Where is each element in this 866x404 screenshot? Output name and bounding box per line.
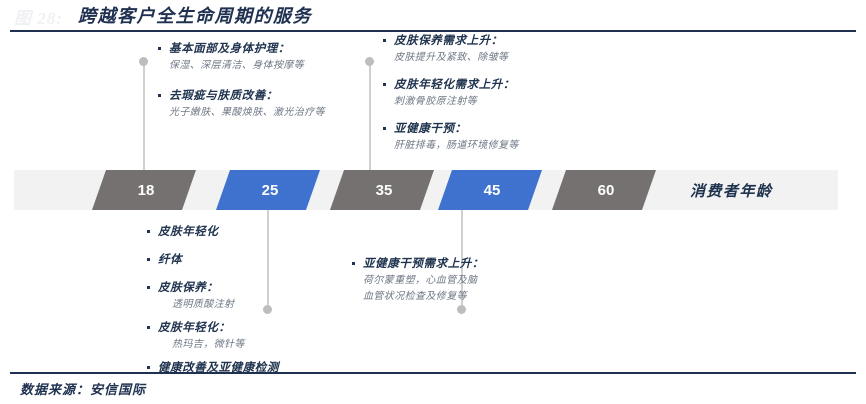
callout-detail: 肝脏排毒，肠道环境修复等 bbox=[394, 138, 519, 154]
list-item: 皮肤年轻化 bbox=[145, 224, 279, 241]
callout-top-right: 皮肤保养需求上升： 皮肤提升及紧致、除皱等 皮肤年轻化需求上升： 刺激骨胶原注射… bbox=[381, 33, 519, 160]
source-note: 数据来源：安信国际 bbox=[20, 379, 146, 398]
age-node-label: 60 bbox=[598, 182, 615, 199]
callout-heading: 皮肤年轻化： bbox=[158, 320, 279, 337]
age-node-label: 45 bbox=[484, 182, 501, 199]
callout-bottom-left: 皮肤年轻化 纤体 皮肤保养： 透明质酸注射 皮肤年轻化： 热玛吉，微针等 健康改… bbox=[145, 224, 279, 383]
callout-heading: 纤体 bbox=[158, 252, 279, 269]
age-node-label: 35 bbox=[376, 182, 393, 199]
list-item: 亚健康干预： 肝脏排毒，肠道环境修复等 bbox=[381, 121, 519, 154]
page-title: 跨越客户全生命周期的服务 bbox=[78, 2, 312, 28]
leader-dot-top-left bbox=[139, 57, 148, 66]
list-item: 基本面部及身体护理： 保湿、深层清洁、身体按摩等 bbox=[156, 41, 325, 74]
callout-heading: 皮肤保养需求上升： bbox=[394, 33, 519, 50]
callout-detail: 光子嫩肤、果酸焕肤、激光治疗等 bbox=[169, 105, 325, 121]
list-item: 健康改善及亚健康检测 bbox=[145, 360, 279, 377]
callout-heading: 亚健康干预： bbox=[394, 121, 519, 138]
footer-divider bbox=[10, 372, 856, 374]
age-node-label: 25 bbox=[262, 182, 279, 199]
callout-heading: 皮肤年轻化 bbox=[158, 224, 279, 241]
leader-line-top-left bbox=[143, 62, 145, 172]
list-item: 去瑕疵与肤质改善： 光子嫩肤、果酸焕肤、激光治疗等 bbox=[156, 88, 325, 121]
exhibit-header: 图 28: 跨越客户全生命周期的服务 bbox=[0, 0, 866, 31]
list-item: 亚健康干预需求上升： 荷尔蒙重塑，心血管及脑血管状况检查及修复等 bbox=[350, 256, 485, 305]
callout-heading: 皮肤保养： bbox=[158, 280, 279, 297]
callout-heading: 皮肤年轻化需求上升： bbox=[394, 77, 519, 94]
callout-heading: 基本面部及身体护理： bbox=[169, 41, 325, 58]
age-node-label: 18 bbox=[138, 182, 155, 199]
callout-detail: 透明质酸注射 bbox=[158, 297, 279, 313]
list-item: 皮肤保养需求上升： 皮肤提升及紧致、除皱等 bbox=[381, 33, 519, 66]
callout-heading: 去瑕疵与肤质改善： bbox=[169, 88, 325, 105]
title-divider bbox=[10, 30, 856, 32]
age-node-18[interactable]: 18 bbox=[92, 170, 196, 210]
axis-caption: 消费者年龄 bbox=[690, 170, 773, 210]
figure-number: 图 28: bbox=[14, 4, 63, 29]
callout-detail: 荷尔蒙重塑，心血管及脑血管状况检查及修复等 bbox=[363, 273, 485, 305]
list-item: 皮肤年轻化需求上升： 刺激骨胶原注射等 bbox=[381, 77, 519, 110]
callout-heading: 健康改善及亚健康检测 bbox=[158, 360, 279, 377]
leader-dot-top-right bbox=[365, 57, 374, 66]
age-node-60[interactable]: 60 bbox=[552, 170, 656, 210]
age-node-35[interactable]: 35 bbox=[330, 170, 434, 210]
callout-heading: 亚健康干预需求上升： bbox=[363, 256, 485, 273]
list-item: 皮肤年轻化： 热玛吉，微针等 bbox=[145, 320, 279, 353]
age-node-45[interactable]: 45 bbox=[438, 170, 542, 210]
list-item: 纤体 bbox=[145, 252, 279, 269]
callout-top-left: 基本面部及身体护理： 保湿、深层清洁、身体按摩等 去瑕疵与肤质改善： 光子嫩肤、… bbox=[156, 41, 325, 127]
callout-detail: 刺激骨胶原注射等 bbox=[394, 94, 519, 110]
callout-detail: 保湿、深层清洁、身体按摩等 bbox=[169, 58, 325, 74]
callout-detail: 热玛吉，微针等 bbox=[158, 337, 279, 353]
callout-bottom-right: 亚健康干预需求上升： 荷尔蒙重塑，心血管及脑血管状况检查及修复等 bbox=[350, 256, 485, 311]
leader-line-top-right bbox=[369, 62, 371, 172]
callout-detail: 皮肤提升及紧致、除皱等 bbox=[394, 50, 519, 66]
age-node-25[interactable]: 25 bbox=[216, 170, 320, 210]
list-item: 皮肤保养： 透明质酸注射 bbox=[145, 280, 279, 313]
